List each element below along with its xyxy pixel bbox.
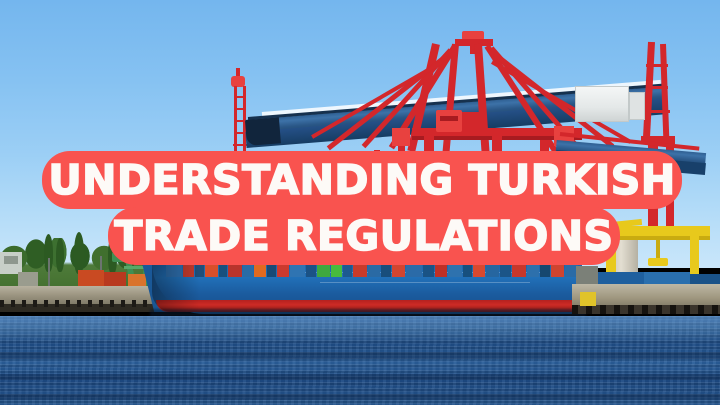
water-band	[0, 352, 720, 359]
title-banner-line-1: UNDERSTANDING TURKISH	[42, 151, 682, 209]
ship-bow-shadow	[152, 258, 200, 312]
tree	[56, 238, 64, 272]
dock-bollard	[580, 292, 596, 306]
thumbnail-image: UNDERSTANDING TURKISH TRADE REGULATIONS	[0, 0, 720, 405]
tree	[74, 232, 84, 274]
water-band	[0, 374, 720, 380]
water-band	[0, 394, 720, 400]
port-building	[575, 86, 629, 122]
ship-deck-line	[320, 282, 530, 283]
shore-building-roof	[4, 256, 18, 264]
port-building-annex	[629, 92, 645, 120]
water-horizon-shine	[0, 316, 720, 342]
lamp-post	[48, 258, 50, 288]
title-banner-line-2: TRADE REGULATIONS	[108, 207, 620, 265]
title-line-1-text: UNDERSTANDING TURKISH	[48, 160, 675, 201]
title-line-2-text: TRADE REGULATIONS	[114, 216, 613, 257]
quay-right-fenders	[572, 305, 720, 314]
